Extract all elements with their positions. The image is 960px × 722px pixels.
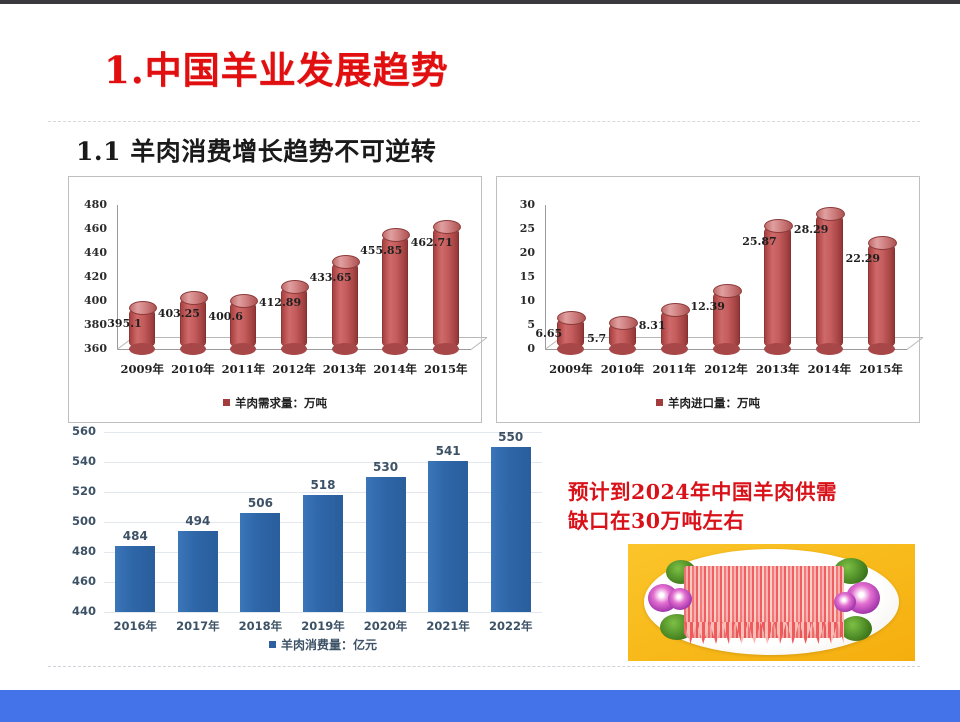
chart-bar <box>366 477 406 612</box>
y-axis-tick-label: 400 <box>73 294 107 307</box>
chart-bar <box>240 513 280 612</box>
x-axis-tick-label: 2012年 <box>700 361 752 377</box>
lamb-platter-photo <box>628 544 915 661</box>
x-axis-tick-label: 2013年 <box>319 361 370 377</box>
y-axis-tick-label: 440 <box>62 604 96 618</box>
legend-label: 羊肉进口量：万吨 <box>668 396 760 410</box>
x-axis-tick-label: 2013年 <box>752 361 804 377</box>
x-axis-tick-label: 2015年 <box>420 361 471 377</box>
y-axis-tick-label: 380 <box>73 318 107 331</box>
grid-line <box>104 612 542 613</box>
annotation-line-2: 缺口在30万吨左右 <box>568 507 918 536</box>
bar-value-label: 530 <box>354 460 417 474</box>
bar-value-label: 494 <box>167 514 230 528</box>
chart-bar <box>491 447 531 612</box>
top-bar <box>0 0 960 4</box>
y-axis-tick-label: 560 <box>62 424 96 438</box>
grid-line <box>104 462 542 463</box>
chart-bar <box>713 290 740 349</box>
bar-value-label: 5.7 <box>587 332 606 345</box>
grid-line <box>104 492 542 493</box>
x-axis-tick-label: 2015年 <box>855 361 907 377</box>
orchid-flower <box>668 588 692 610</box>
bar-value-label: 403.25 <box>158 307 200 320</box>
orchid-flower <box>834 592 856 612</box>
bar-value-label: 395.1 <box>107 317 141 330</box>
bar-value-label: 12.39 <box>691 300 725 313</box>
grid-line <box>104 432 542 433</box>
bar-value-label: 550 <box>479 430 542 444</box>
x-axis-tick-label: 2009年 <box>545 361 597 377</box>
y-axis-tick-label: 460 <box>62 574 96 588</box>
bar-value-label: 22.29 <box>846 252 880 265</box>
footer-bar <box>0 690 960 722</box>
chart-bar <box>178 531 218 612</box>
y-axis-tick-label: 15 <box>501 270 535 283</box>
x-axis-tick-label: 2011年 <box>648 361 700 377</box>
x-axis-tick-label: 2016年 <box>104 618 167 634</box>
bar-value-label: 28.29 <box>794 223 828 236</box>
chart-bar <box>180 297 206 349</box>
bar-value-label: 484 <box>104 529 167 543</box>
chart-mutton-demand: 360380400420440460480395.12009年403.25201… <box>68 176 482 423</box>
bar-value-label: 506 <box>229 496 292 510</box>
chart-bar <box>230 300 256 349</box>
bar-value-label: 455.85 <box>360 244 402 257</box>
x-axis-tick-label: 2014年 <box>370 361 421 377</box>
y-axis-tick-label: 440 <box>73 246 107 259</box>
y-axis-tick-label: 25 <box>501 222 535 235</box>
bar-value-label: 462.71 <box>411 236 453 249</box>
bar-value-label: 433.65 <box>310 271 352 284</box>
section-subtitle: 1.1 羊肉消费增长趋势不可逆转 <box>76 132 436 168</box>
divider-top <box>48 121 920 122</box>
y-axis-tick-label: 460 <box>73 222 107 235</box>
x-axis-tick-label: 2020年 <box>354 618 417 634</box>
x-axis-tick-label: 2017年 <box>167 618 230 634</box>
chart-legend: 羊肉需求量：万吨 <box>69 395 481 411</box>
page-title: 1.中国羊业发展趋势 <box>104 40 449 94</box>
annotation-line-1: 预计到2024年中国羊肉供需 <box>568 478 918 507</box>
slide-canvas: 1.中国羊业发展趋势 1.1 羊肉消费增长趋势不可逆转 360380400420… <box>0 0 960 722</box>
x-axis-tick-label: 2011年 <box>218 361 269 377</box>
x-axis-tick-label: 2022年 <box>479 618 542 634</box>
chart-plot-area: 0510152025306.652009年5.72010年8.312011年12… <box>497 177 919 422</box>
bar-value-label: 541 <box>417 444 480 458</box>
legend-swatch-icon <box>656 399 663 406</box>
y-axis-tick-label: 480 <box>62 544 96 558</box>
bar-value-label: 400.6 <box>208 310 242 323</box>
bar-value-label: 518 <box>292 478 355 492</box>
y-axis-tick-label: 20 <box>501 246 535 259</box>
bar-value-label: 8.31 <box>639 319 666 332</box>
x-axis-tick-label: 2021年 <box>417 618 480 634</box>
legend-label: 羊肉需求量：万吨 <box>235 396 327 410</box>
chart-mutton-import: 0510152025306.652009年5.72010年8.312011年12… <box>496 176 920 423</box>
chart-mutton-consumption: 4404604805005205405604842016年4942017年506… <box>58 424 544 664</box>
chart-legend: 羊肉消费量：亿元 <box>104 636 542 653</box>
forecast-annotation: 预计到2024年中国羊肉供需 缺口在30万吨左右 <box>568 478 918 536</box>
bar-value-label: 25.87 <box>742 235 776 248</box>
bar-value-label: 6.65 <box>535 327 562 340</box>
legend-swatch-icon <box>269 641 276 648</box>
y-axis-tick-label: 0 <box>501 342 535 355</box>
legend-swatch-icon <box>223 399 230 406</box>
y-axis-tick-label: 540 <box>62 454 96 468</box>
chart-bar <box>428 461 468 613</box>
x-axis-tick-label: 2012年 <box>269 361 320 377</box>
y-axis-tick-label: 10 <box>501 294 535 307</box>
x-axis-tick-label: 2009年 <box>117 361 168 377</box>
x-axis-tick-label: 2010年 <box>597 361 649 377</box>
chart-legend: 羊肉进口量：万吨 <box>497 395 919 411</box>
divider-bottom <box>48 666 920 667</box>
chart-bar <box>303 495 343 612</box>
y-axis-tick-label: 360 <box>73 342 107 355</box>
floor-depth-line <box>907 337 924 350</box>
legend-label: 羊肉消费量：亿元 <box>281 638 377 652</box>
chart-bar <box>609 322 636 349</box>
x-axis-tick-label: 2010年 <box>168 361 219 377</box>
x-axis-tick-label: 2014年 <box>804 361 856 377</box>
garnish-greens <box>840 616 872 641</box>
y-axis-tick-label: 520 <box>62 484 96 498</box>
chart-plot-area: 360380400420440460480395.12009年403.25201… <box>69 177 481 422</box>
bar-value-label: 412.89 <box>259 296 301 309</box>
y-axis-tick-label: 30 <box>501 198 535 211</box>
floor-depth-line <box>471 337 488 350</box>
x-axis-tick-label: 2018年 <box>229 618 292 634</box>
y-axis-tick-label: 500 <box>62 514 96 528</box>
y-axis-tick-label: 480 <box>73 198 107 211</box>
y-axis-tick-label: 5 <box>501 318 535 331</box>
y-axis-tick-label: 420 <box>73 270 107 283</box>
chart-bar <box>115 546 155 612</box>
x-axis-tick-label: 2019年 <box>292 618 355 634</box>
